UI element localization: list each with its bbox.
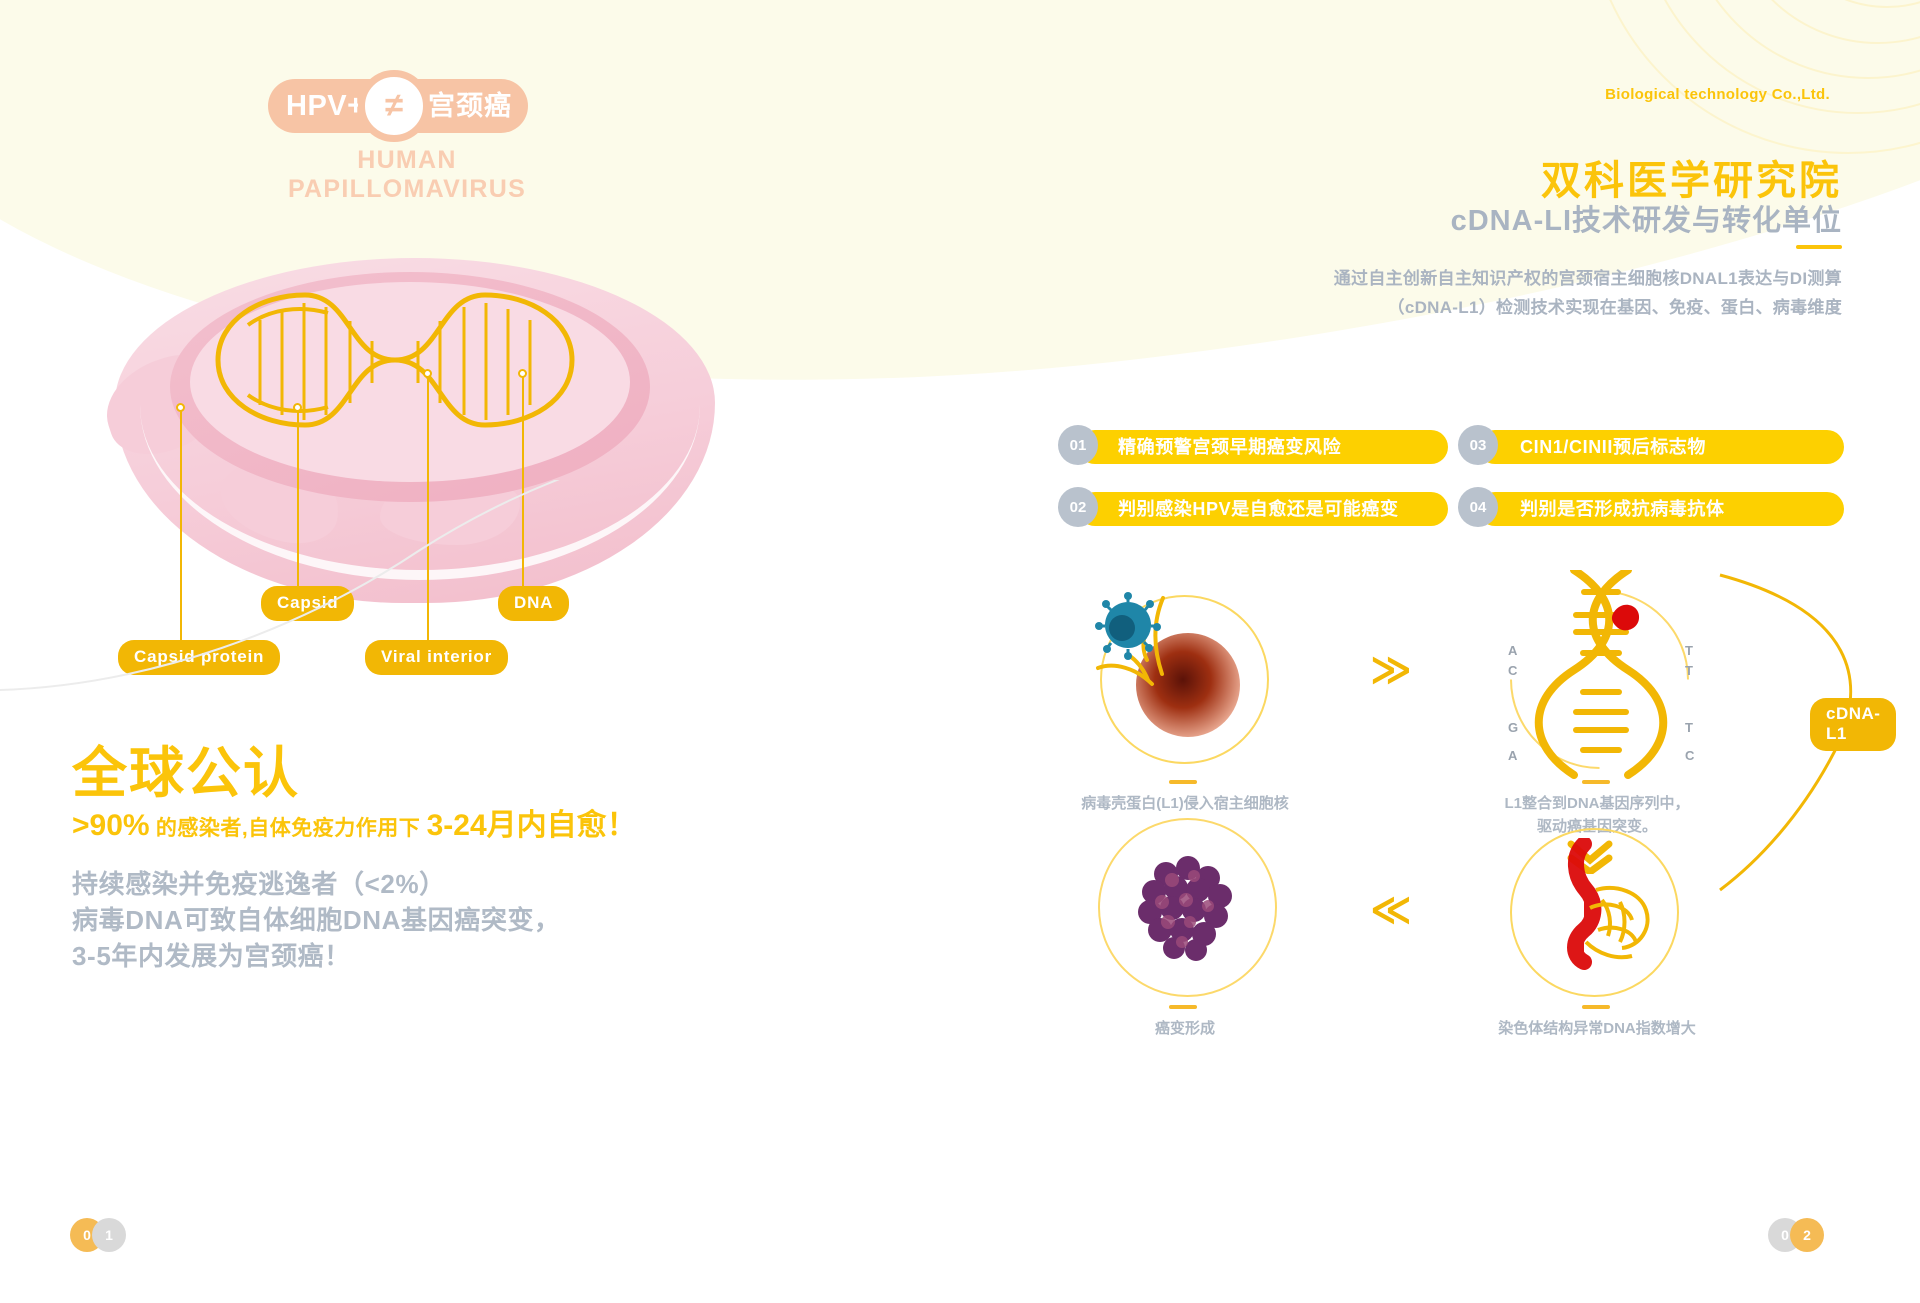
institute-subtitle: cDNA-LI技术研发与转化单位	[1451, 197, 1842, 239]
feature-label: 判别感染HPV是自愈还是可能癌变	[1118, 492, 1399, 526]
arrow-left-icon: ≪	[1370, 890, 1412, 930]
lead-duration: 3-24月内自愈！	[427, 809, 637, 842]
hpv-badge-left-label: HPV+	[286, 79, 365, 133]
step2-caption-rule	[1582, 780, 1610, 784]
chromosome-icon	[1528, 838, 1678, 988]
step3-caption-rule	[1582, 1005, 1610, 1009]
title-divider	[1796, 245, 1842, 249]
feature-number: 02	[1058, 487, 1098, 527]
body-copy-line: 持续感染并免疫逃逸者（<2%）	[72, 866, 561, 902]
page-number-digit: 1	[92, 1218, 126, 1252]
not-equal-glyph: ≠	[365, 77, 423, 135]
company-name: Biological technology Co.,Ltd.	[1605, 86, 1830, 103]
feature-number: 04	[1458, 487, 1498, 527]
decorative-swoosh	[0, 480, 780, 740]
feature-item-01[interactable]: 01 精确预警宫颈早期癌变风险	[1058, 430, 1448, 464]
institute-description-line: （cDNA-L1）检测技术实现在基因、免疫、蛋白、病毒维度	[1242, 293, 1842, 322]
virus-cell-icon	[1080, 580, 1310, 780]
body-copy: 持续感染并免疫逃逸者（<2%） 病毒DNA可致自体细胞DNA基因癌突变， 3-5…	[72, 866, 561, 974]
virus-particle-icon	[1095, 592, 1161, 660]
dna-ring-icon	[200, 265, 630, 455]
dna-helix-icon	[1526, 570, 1676, 780]
not-equal-icon: ≠	[358, 70, 430, 142]
tumor-mass-icon	[1128, 848, 1248, 968]
arrow-right-icon: ≫	[1370, 650, 1412, 690]
lead-middle: 的感染者,自体免疫力作用下	[150, 817, 427, 840]
lead-statement: >90% 的感染者,自体免疫力作用下 3-24月内自愈！	[72, 800, 637, 844]
step1-caption: 病毒壳蛋白(L1)侵入宿主细胞核	[1000, 792, 1370, 815]
institute-description-line: 通过自主创新自主知识产权的宫颈宿主细胞核DNAL1表达与DI测算	[1242, 264, 1842, 293]
feature-label: CIN1/CINII预后标志物	[1520, 430, 1706, 464]
dna-base-left: A	[1508, 748, 1517, 763]
dna-base-left: C	[1508, 663, 1517, 678]
page-number-digit: 2	[1790, 1218, 1824, 1252]
hpv-subtitle: HUMAN PAPILLOMAVIRUS	[247, 146, 567, 204]
step4-caption: 癌变形成	[1040, 1017, 1330, 1040]
feature-number: 03	[1458, 425, 1498, 465]
feature-label: 判别是否形成抗病毒抗体	[1520, 492, 1725, 526]
feature-number: 01	[1058, 425, 1098, 465]
hpv-badge-right-label: 宫颈癌	[428, 79, 512, 133]
step4-caption-rule	[1169, 1005, 1197, 1009]
lead-percent: >90%	[72, 809, 150, 842]
dna-base-left: G	[1508, 720, 1518, 735]
step3-caption: 染色体结构异常DNA指数增大	[1432, 1017, 1762, 1040]
process-diagram: 病毒壳蛋白(L1)侵入宿主细胞核 ≫ A C G A T	[1060, 580, 1860, 980]
feature-label: 精确预警宫颈早期癌变风险	[1118, 430, 1341, 464]
step1-caption-rule	[1169, 780, 1197, 784]
cdna-l1-badge: cDNA-L1	[1810, 698, 1896, 751]
infographic-page: HPV+ 宫颈癌 ≠ HUMAN PAPILLOMAVIRUS	[0, 0, 1920, 1303]
page-headline: 全球公认	[72, 728, 300, 808]
page-number-left: 0 1	[70, 1218, 190, 1258]
institute-description: 通过自主创新自主知识产权的宫颈宿主细胞核DNAL1表达与DI测算 （cDNA-L…	[1242, 264, 1842, 322]
feature-item-02[interactable]: 02 判别感染HPV是自愈还是可能癌变	[1058, 492, 1448, 526]
page-number-right: 0 2	[1768, 1218, 1888, 1258]
body-copy-line: 病毒DNA可致自体细胞DNA基因癌突变，	[72, 902, 561, 938]
feature-item-03[interactable]: 03 CIN1/CINII预后标志物	[1458, 430, 1844, 464]
body-copy-line: 3-5年内发展为宫颈癌！	[72, 938, 561, 974]
dna-base-left: A	[1508, 643, 1517, 658]
feature-item-04[interactable]: 04 判别是否形成抗病毒抗体	[1458, 492, 1844, 526]
